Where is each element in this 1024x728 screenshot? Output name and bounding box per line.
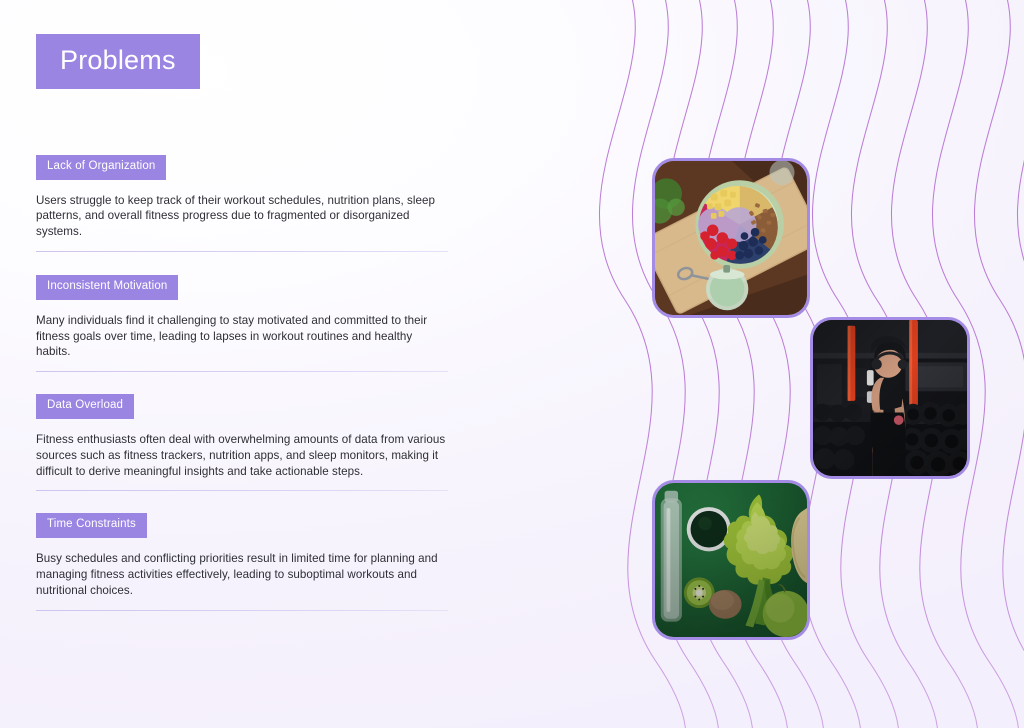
problem-description-4: Busy schedules and conflicting prioritie… (36, 551, 448, 599)
problem-description-1: Users struggle to keep track of their wo… (36, 193, 448, 241)
problem-item-3: Data Overload Fitness enthusiasts often … (36, 394, 456, 491)
green-vegetables-illustration (655, 483, 807, 637)
problem-item-4: Time Constraints Busy schedules and conf… (36, 513, 456, 610)
gym-workout-photo (810, 317, 970, 479)
problems-list: Lack of Organization Users struggle to k… (36, 155, 456, 611)
problem-item-1: Lack of Organization Users struggle to k… (36, 155, 456, 252)
problem-description-3: Fitness enthusiasts often deal with over… (36, 432, 448, 480)
smoothie-bowl-photo-inner (655, 161, 807, 315)
problem-tag-inconsistent-motivation: Inconsistent Motivation (36, 275, 178, 300)
problem-item-2: Inconsistent Motivation Many individuals… (36, 275, 456, 372)
problem-divider-4 (36, 610, 448, 611)
problem-divider-2 (36, 371, 448, 372)
green-vegetables-photo-inner (655, 483, 807, 637)
problem-tag-time-constraints: Time Constraints (36, 513, 147, 538)
gym-workout-illustration (813, 320, 967, 476)
problem-divider-3 (36, 490, 448, 491)
problem-description-2: Many individuals find it challenging to … (36, 313, 448, 361)
gym-workout-photo-inner (813, 320, 967, 476)
page-title: Problems (36, 34, 200, 89)
smoothie-bowl-illustration (655, 161, 807, 315)
slide-header: Problems (36, 34, 456, 89)
slide-canvas: Problems Lack of Organization Users stru… (0, 0, 1024, 728)
smoothie-bowl-photo (652, 158, 810, 318)
problem-divider-1 (36, 251, 448, 252)
problem-tag-data-overload: Data Overload (36, 394, 134, 419)
problem-tag-lack-of-organization: Lack of Organization (36, 155, 166, 180)
green-vegetables-photo (652, 480, 810, 640)
